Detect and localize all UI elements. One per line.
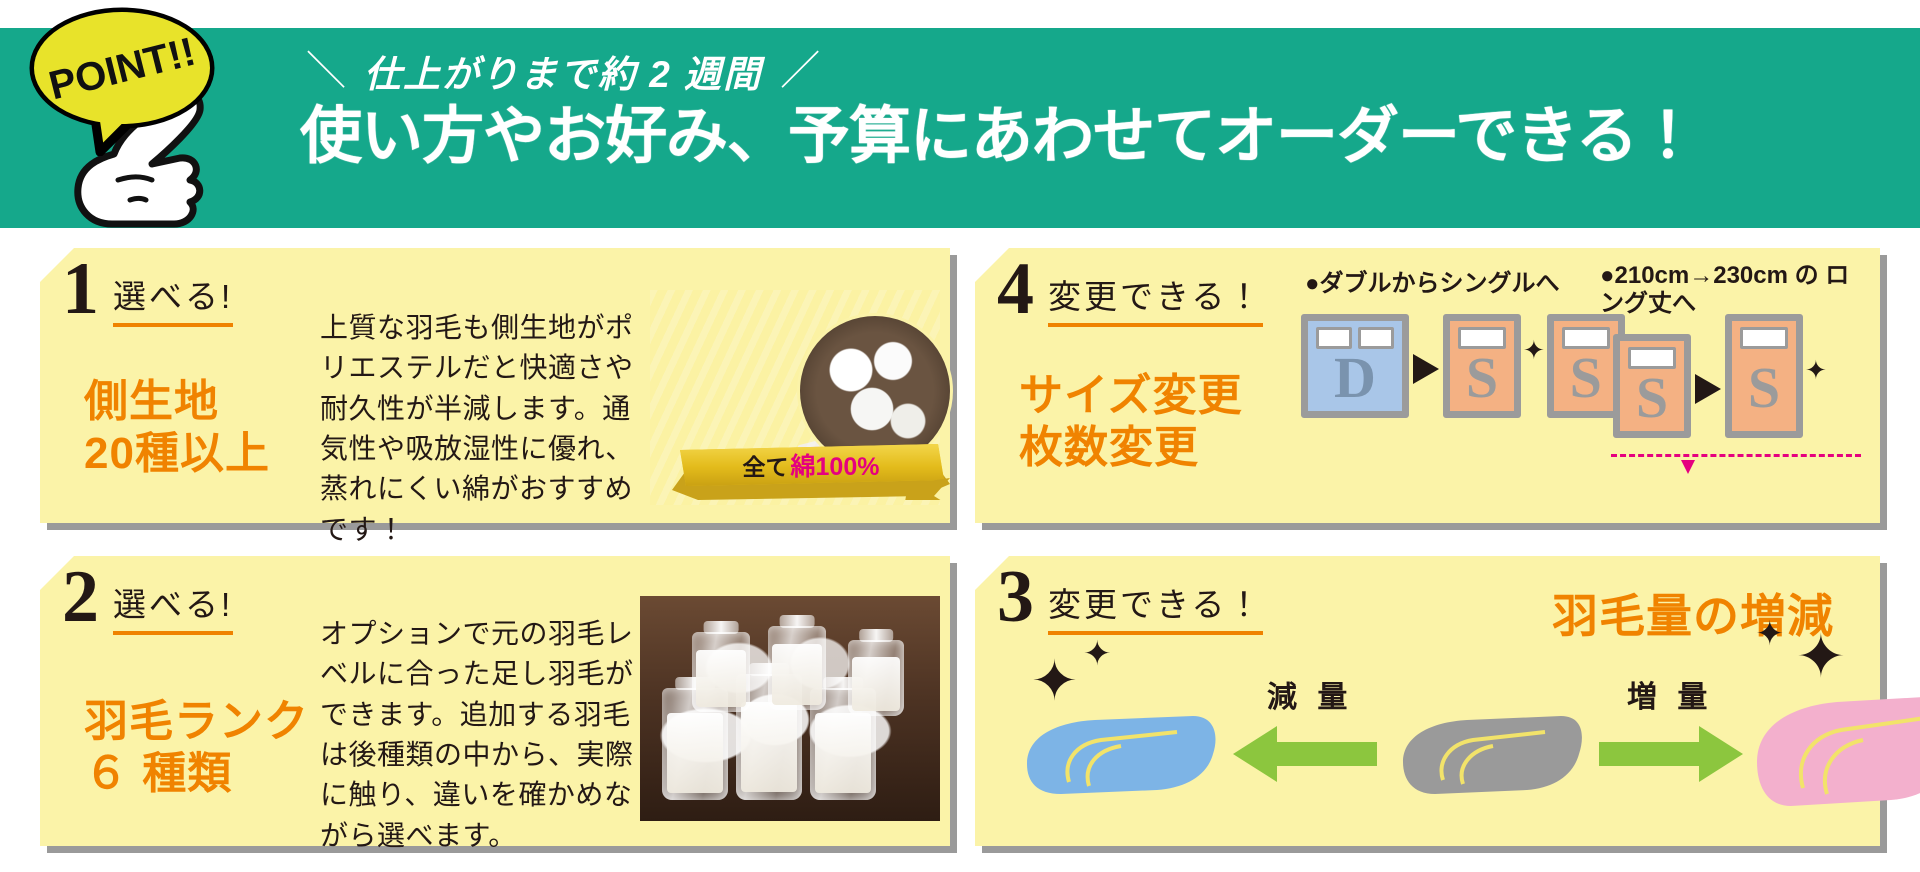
panel-1: 1 選べる! 側生地 20種以上 上質な羽毛も側生地がポリエステルだと快適さや耐… <box>40 248 950 523</box>
bed-letter-s2: S <box>1570 349 1602 407</box>
panel-3: 3 変更できる！ 羽毛量の増減 ✦ ✦ ✦ ✦ <box>975 556 1880 846</box>
arrow-left-decrease-icon <box>1233 724 1377 789</box>
header-kicker-text: 仕上がりまで約 2 週間 <box>364 44 762 98</box>
down-jars-photo <box>640 596 940 821</box>
bed-letter-s3: S <box>1636 369 1668 427</box>
panel-3-rule <box>1048 631 1263 635</box>
sparkle-icon-2: ✦ <box>1805 355 1827 386</box>
panel-4-title-line1: サイズ変更 <box>1019 370 1243 422</box>
panel-2: 2 選べる! 羽毛ランク ６ 種類 オプションで元の羽毛レベルに合った足し羽毛が… <box>40 556 950 846</box>
arrow-right-icon <box>1413 354 1439 384</box>
panel-4-title: サイズ変更 枚数変更 <box>1019 370 1243 474</box>
panel-4-subtitle: 変更できる！ <box>1048 270 1263 318</box>
panel-4-title-line2: 枚数変更 <box>1019 422 1243 474</box>
panel-2-header: 2 選べる! <box>62 564 233 635</box>
panel-2-title-line2: ６ 種類 <box>84 748 309 800</box>
futon-gray <box>1393 706 1589 798</box>
panel-1-subtitle: 選べる! <box>113 270 233 318</box>
long-length-arrow-icon <box>1681 460 1695 474</box>
panel-1-title-line2: 20種以上 <box>84 428 270 480</box>
panel-2-subtitle: 選べる! <box>113 578 233 626</box>
bed-double: D <box>1301 314 1409 418</box>
panel-3-number: 3 <box>997 564 1034 631</box>
panel-1-title: 側生地 20種以上 <box>84 376 270 480</box>
panel-1-title-line1: 側生地 <box>84 376 270 428</box>
promo-graphic-root: ＼ 仕上がりまで約 2 週間 ／ 使い方やお好み、予算にあわせてオーダーできる！… <box>0 0 1920 872</box>
panel-1-header: 1 選べる! <box>62 256 233 327</box>
panel-2-body: オプションで元の羽毛レベルに合った足し羽毛ができます。追加する羽毛は後種類の中か… <box>320 614 640 856</box>
panel-3-subtitle: 変更できる！ <box>1048 578 1263 626</box>
panel-3-header: 3 変更できる！ <box>997 564 1263 635</box>
arrow-right-increase-icon <box>1599 724 1743 789</box>
bed-single-short: S <box>1613 334 1691 438</box>
label-decrease: 減 量 <box>1267 672 1353 716</box>
slash-left-icon: ＼ <box>306 51 346 91</box>
header-kicker-row: ＼ 仕上がりまで約 2 週間 ／ <box>300 44 1860 98</box>
panel-4-note2-line1: ●210cm→230cm の <box>1600 262 1819 289</box>
futon-pink <box>1745 688 1920 810</box>
panel-2-number: 2 <box>62 564 99 631</box>
bed-group-long-change: S S ✦ <box>1613 314 1829 438</box>
ribbon-prefix: 全て <box>743 448 789 482</box>
panel-2-title: 羽毛ランク ６ 種類 <box>84 696 309 800</box>
futon-light-blue <box>1017 706 1223 798</box>
panel-4-rule <box>1048 323 1263 327</box>
point-badge: POINT!! <box>22 6 232 156</box>
header-content: ＼ 仕上がりまで約 2 週間 ／ 使い方やお好み、予算にあわせてオーダーできる！ <box>300 44 1860 171</box>
panel-3-title: 羽毛量の増減 <box>1552 580 1834 646</box>
sparkle-icon-right-small: ✦ <box>1756 614 1785 654</box>
panel-1-rule <box>113 323 233 327</box>
sparkle-icon-right-big: ✦ <box>1796 622 1846 692</box>
label-increase: 増 量 <box>1627 672 1713 716</box>
cotton-ribbon-banner: 全て 綿100% <box>672 444 950 500</box>
panel-4: 4 変更できる！ サイズ変更 枚数変更 ●ダブルからシングルへ ●210cm→2… <box>975 248 1880 523</box>
ribbon-emphasis: 綿100% <box>791 447 880 483</box>
panel-grid: 1 選べる! 側生地 20種以上 上質な羽毛も側生地がポリエステルだと快適さや耐… <box>0 228 1920 872</box>
slash-right-icon: ／ <box>780 51 820 91</box>
cotton-ribbon-text: 全て 綿100% <box>672 444 950 486</box>
arrow-right-icon-2 <box>1695 374 1721 404</box>
panel-4-note-double-to-single: ●ダブルからシングルへ <box>1305 270 1560 299</box>
panel-1-number: 1 <box>62 256 99 323</box>
bed-letter-s1: S <box>1466 349 1498 407</box>
panel-1-body: 上質な羽毛も側生地がポリエステルだと快適さや耐久性が半減します。通気性や吸放湿性… <box>320 308 640 550</box>
bed-letter-s4: S <box>1748 359 1780 417</box>
header-headline: 使い方やお好み、予算にあわせてオーダーできる！ <box>300 104 1860 171</box>
panel-2-title-line1: 羽毛ランク <box>84 696 309 748</box>
panel-4-number: 4 <box>997 256 1034 323</box>
sparkle-icon-left-big: ✦ <box>1031 648 1078 714</box>
sparkle-icon-left-small: ✦ <box>1083 634 1112 674</box>
panel-4-note-long-length: ●210cm→230cm の ロング丈へ <box>1600 262 1850 317</box>
bed-letter-d: D <box>1334 349 1376 407</box>
bed-single-1: S <box>1443 314 1521 418</box>
bed-group-size-change: D S ✦ S <box>1301 314 1625 418</box>
bed-single-long: S <box>1725 314 1803 438</box>
panel-2-rule <box>113 631 233 635</box>
sparkle-icon: ✦ <box>1523 335 1545 366</box>
panel-4-header: 4 変更できる！ <box>997 256 1263 327</box>
long-length-dash-line <box>1611 454 1861 457</box>
